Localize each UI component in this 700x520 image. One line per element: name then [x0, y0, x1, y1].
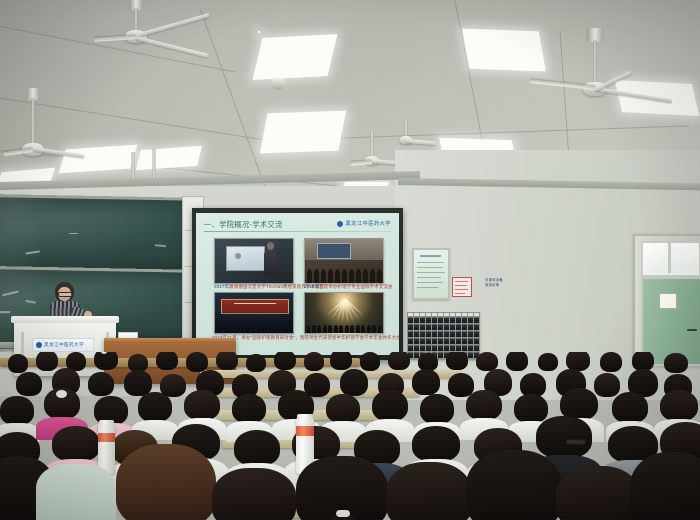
rack-cell[interactable] — [474, 345, 479, 351]
audience-member — [388, 352, 410, 370]
rack-cell[interactable] — [462, 338, 467, 344]
audience-member-front — [630, 452, 700, 520]
rack-cell[interactable] — [456, 317, 461, 323]
university-logo: 黑龙江中医药大学 — [337, 220, 391, 227]
photo-inner-board — [317, 243, 350, 258]
rack-cell[interactable] — [414, 338, 419, 344]
head — [330, 352, 352, 370]
rack-cell[interactable] — [468, 345, 473, 351]
rack-cell[interactable] — [408, 317, 413, 323]
rack-cell[interactable] — [432, 331, 437, 337]
head — [274, 352, 296, 370]
head — [538, 353, 558, 371]
slide-photo-conference-hall — [214, 292, 294, 334]
rack-cell[interactable] — [450, 324, 455, 330]
logo-emblem-icon — [337, 221, 343, 227]
audience-member — [16, 372, 42, 396]
bottle-cap — [297, 414, 312, 419]
audience-member-front — [296, 456, 388, 520]
audience-member — [186, 352, 208, 372]
rack-cell[interactable] — [420, 317, 425, 323]
rack-cell[interactable] — [432, 324, 437, 330]
rack-cell[interactable] — [468, 338, 473, 344]
audience-member — [8, 354, 28, 373]
rack-cell[interactable] — [444, 324, 449, 330]
transom-mullion — [668, 241, 671, 273]
ceiling-light-panel — [462, 29, 546, 72]
bottle-label — [98, 433, 115, 442]
rack-cell[interactable] — [450, 338, 455, 344]
rack-cell[interactable] — [408, 324, 413, 330]
rack-cell[interactable] — [474, 317, 479, 323]
head — [446, 352, 468, 370]
head — [420, 394, 454, 424]
notice-line — [417, 277, 441, 278]
photo-inner-seats — [215, 312, 293, 333]
head — [216, 352, 238, 370]
head — [8, 354, 28, 373]
rack-cell[interactable] — [414, 331, 419, 337]
wall-instruction-text: 多媒体设备 使用说明 — [485, 278, 503, 288]
caption-year: 2018年 — [304, 284, 319, 289]
audience-member — [274, 352, 296, 370]
chalk-mark — [0, 311, 10, 313]
head — [186, 352, 208, 372]
wall-notice-board — [412, 248, 450, 300]
rack-row[interactable] — [408, 324, 479, 330]
audience-member-front — [466, 450, 562, 520]
head — [664, 353, 688, 373]
head — [412, 426, 460, 462]
rack-cell[interactable] — [462, 345, 467, 351]
rack-cell[interactable] — [420, 345, 425, 351]
rack-cell[interactable] — [408, 345, 413, 351]
rack-cell[interactable] — [432, 345, 437, 351]
slide-divider — [204, 231, 391, 232]
head — [388, 352, 410, 370]
audience-member — [538, 353, 558, 371]
podium-nameplate: 黑龙江中医药大学 — [32, 338, 94, 352]
notice-line — [417, 262, 444, 263]
logo-text: 黑龙江中医药大学 — [345, 220, 391, 227]
rack-cell[interactable] — [438, 331, 443, 337]
rack-cell[interactable] — [432, 338, 437, 344]
rack-row[interactable] — [408, 331, 479, 337]
notice-line — [417, 267, 443, 268]
photo-inner-speaker — [264, 249, 276, 276]
rack-cell[interactable] — [462, 324, 467, 330]
slide-caption-2: 2018年我院举办护理学专业国际学术交流会 — [304, 284, 393, 290]
head — [466, 450, 562, 520]
ceiling-fan — [573, 28, 617, 108]
audience-member — [340, 369, 368, 396]
photo-inner-banner — [234, 303, 276, 304]
audience-member — [330, 352, 352, 370]
head — [16, 372, 42, 396]
caption-text: 我院举办护理学专业国际学术交流会 — [319, 284, 392, 289]
head — [94, 352, 118, 370]
rack-cell[interactable] — [420, 338, 425, 344]
head — [88, 372, 114, 396]
podium-top-surface — [11, 316, 119, 323]
presentation-slide: 一、学院概况-学术交流 黑龙江中医药大学 2017年邀请德国汉堡大学Thomas… — [196, 213, 399, 355]
rack-cell[interactable] — [462, 331, 467, 337]
head — [660, 390, 698, 421]
rack-cell[interactable] — [438, 324, 443, 330]
head — [600, 352, 622, 372]
rack-cell[interactable] — [462, 317, 467, 323]
bottle-cap — [99, 420, 113, 425]
rack-cell[interactable] — [414, 324, 419, 330]
head — [0, 396, 34, 425]
audience-member — [246, 354, 266, 372]
fire-safety-poster — [452, 277, 472, 297]
ceiling-fan — [13, 88, 53, 168]
rack-cell[interactable] — [468, 317, 473, 323]
photo-inner-crowd — [305, 260, 383, 283]
head — [212, 468, 296, 520]
rack-cell[interactable] — [456, 331, 461, 337]
head — [386, 462, 472, 520]
chalkboard-glare — [0, 197, 192, 275]
rack-cell[interactable] — [444, 345, 449, 351]
rack-cell[interactable] — [474, 324, 479, 330]
rack-cell[interactable] — [438, 317, 443, 323]
rack-cell[interactable] — [408, 338, 413, 344]
rack-cell[interactable] — [414, 317, 419, 323]
rack-cell[interactable] — [456, 338, 461, 344]
rack-cell[interactable] — [426, 331, 431, 337]
presenter-glasses-icon — [58, 292, 73, 297]
ceiling-dome-detector — [272, 78, 285, 90]
glasses-icon — [566, 439, 586, 445]
head — [184, 390, 220, 420]
head — [612, 392, 648, 423]
head — [630, 452, 700, 520]
door-vision-panel — [659, 293, 677, 309]
rack-cell[interactable] — [426, 338, 431, 344]
rack-cell[interactable] — [456, 345, 461, 351]
rack-cell[interactable] — [444, 317, 449, 323]
rack-cell[interactable] — [420, 324, 425, 330]
rack-cell[interactable] — [450, 331, 455, 337]
rack-row[interactable] — [408, 345, 479, 351]
audience-member — [94, 352, 118, 370]
slide-photo-seminar — [304, 238, 384, 284]
rack-cell[interactable] — [408, 331, 413, 337]
chalk-mark — [69, 233, 78, 234]
projection-screen: 一、学院概况-学术交流 黑龙江中医药大学 2017年邀请德国汉堡大学Thomas… — [196, 213, 399, 355]
wall-text-line-2: 使用说明 — [485, 283, 503, 288]
ceiling-light-panel — [260, 111, 346, 154]
audience-member — [304, 352, 324, 371]
rack-cell[interactable] — [474, 331, 479, 337]
audience-member-front — [386, 462, 472, 520]
ceiling-fan — [106, 0, 166, 50]
rack-cell[interactable] — [468, 331, 473, 337]
head — [340, 369, 368, 396]
door-handle-icon[interactable] — [687, 329, 697, 331]
rack-cell[interactable] — [444, 331, 449, 337]
audience-member — [156, 352, 178, 370]
rack-cell[interactable] — [414, 345, 419, 351]
audience-member-front — [36, 464, 116, 520]
notice-line — [417, 287, 439, 288]
slide-caption-bottom: 2019年11月，承办"国际护理教育研讨会"，我院师生代表参加中华护理学会学术年… — [212, 335, 399, 341]
ceiling-light-panel — [253, 34, 338, 80]
slide-photo-assembly — [304, 292, 384, 334]
ceiling-light-panel — [258, 31, 260, 33]
slide-title: 一、学院概况-学术交流 — [204, 220, 283, 230]
rack-cell[interactable] — [450, 345, 455, 351]
hair-tie — [336, 510, 350, 517]
head — [138, 392, 172, 422]
rack-cell[interactable] — [444, 338, 449, 344]
fan-blade — [350, 160, 372, 166]
rack-cell[interactable] — [456, 324, 461, 330]
notice-line — [417, 282, 444, 283]
green-chalkboard — [0, 194, 194, 278]
audience-area — [0, 352, 700, 520]
audience-member — [412, 369, 440, 395]
head — [116, 444, 216, 520]
lecture-hall-photo: 一、学院概况-学术交流 黑龙江中医药大学 2017年邀请德国汉堡大学Thomas… — [0, 0, 700, 520]
rack-row[interactable] — [408, 317, 479, 323]
rack-cell[interactable] — [450, 317, 455, 323]
rack-cell[interactable] — [474, 338, 479, 344]
audience-member — [88, 372, 114, 396]
rack-header-row — [408, 313, 479, 316]
head — [246, 354, 266, 372]
photo-inner-screen — [226, 246, 265, 271]
slide-title-sub: 学术交流 — [252, 220, 282, 229]
rack-cell[interactable] — [432, 317, 437, 323]
audience-member-front — [556, 466, 640, 520]
audience-member — [216, 352, 238, 370]
head — [232, 394, 266, 423]
caption-year: 2017年 — [214, 284, 229, 289]
head — [372, 390, 408, 421]
notice-line — [417, 272, 445, 273]
shoulders — [36, 464, 116, 520]
head — [156, 352, 178, 370]
head — [326, 394, 360, 423]
podium-nameplate-text: 黑龙江中医药大学 — [44, 342, 84, 348]
rack-cell[interactable] — [426, 324, 431, 330]
rack-cell[interactable] — [438, 338, 443, 344]
slide-photo-lecture — [214, 238, 294, 284]
audience-member — [600, 352, 622, 372]
bottle-label — [296, 426, 314, 436]
rack-cell[interactable] — [426, 317, 431, 323]
audience-member-front — [212, 468, 296, 520]
rack-cell[interactable] — [438, 345, 443, 351]
head — [466, 390, 502, 420]
rack-cell[interactable] — [426, 345, 431, 351]
head — [234, 430, 280, 466]
head — [52, 426, 100, 462]
desk-edge — [104, 338, 236, 343]
head — [556, 466, 640, 520]
head — [304, 352, 324, 371]
photo-inner-portrait — [235, 253, 241, 259]
slide-title-main: 学院概况 — [219, 220, 249, 229]
slide-title-number: 一、 — [204, 220, 219, 229]
photo-inner-seats — [305, 315, 383, 333]
hair-clip — [56, 390, 67, 398]
rack-row[interactable] — [408, 338, 479, 344]
rack-cell[interactable] — [468, 324, 473, 330]
audience-member-front — [116, 444, 216, 520]
rack-cell[interactable] — [420, 331, 425, 337]
audience-member — [664, 353, 688, 373]
university-emblem-icon — [36, 342, 42, 348]
notice-heading-bar — [420, 255, 440, 257]
head — [412, 369, 440, 395]
audience-member — [446, 352, 468, 370]
